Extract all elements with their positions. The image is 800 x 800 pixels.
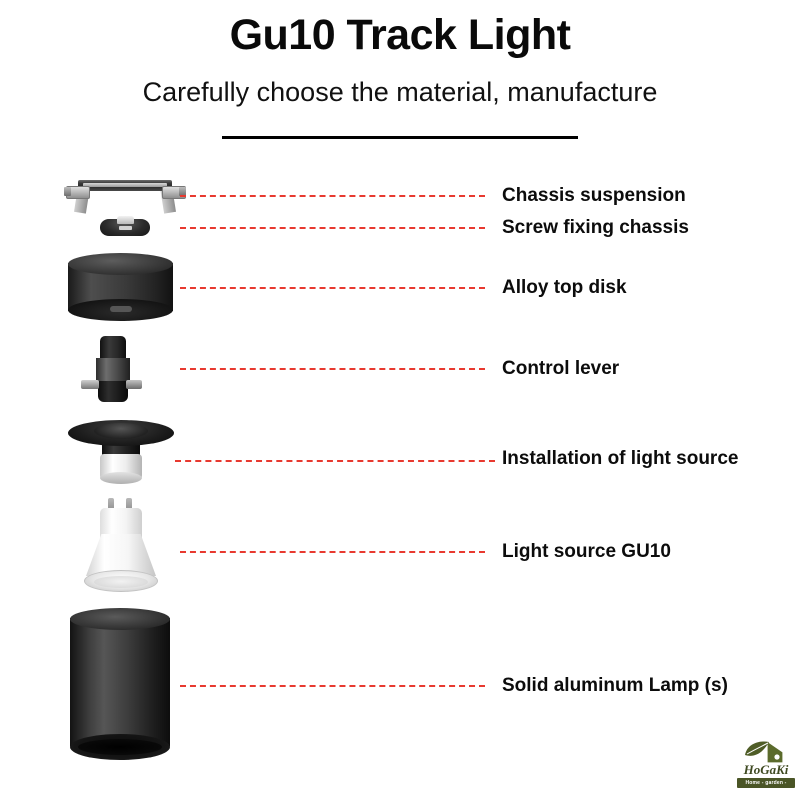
logo-wordmark: HoGaKi	[737, 763, 795, 776]
logo-tagline: Home - garden - kitchen	[737, 778, 795, 788]
bulb-lens-inner	[94, 576, 148, 588]
page-subtitle: Carefully choose the material, manufactu…	[0, 78, 800, 108]
bulb-neck	[100, 508, 142, 538]
callout-label-installation-of-light-source: Installation of light source	[502, 449, 738, 468]
control-lever-knob-right	[126, 380, 142, 389]
leader-line-light-source-gu10	[180, 551, 485, 553]
suspension-screw-left	[64, 187, 71, 196]
header-divider	[222, 136, 578, 139]
alloy-disk-slot	[110, 306, 132, 312]
brand-logo: HoGaKi Home - garden - kitchen	[737, 739, 795, 791]
callout-label-chassis-suspension: Chassis suspension	[502, 186, 686, 205]
leader-line-chassis-suspension	[180, 195, 485, 197]
lamp-housing-top	[70, 608, 170, 630]
part-light-source-gu10	[72, 498, 170, 594]
part-chassis-suspension	[64, 178, 186, 216]
leader-line-solid-aluminum-lamp	[180, 685, 485, 687]
part-control-lever	[78, 336, 148, 402]
part-screw-fixing-chassis	[100, 216, 150, 238]
screw-fixing-cap	[117, 216, 134, 224]
callout-label-control-lever: Control lever	[502, 359, 619, 378]
suspension-bar	[78, 180, 172, 191]
control-lever-shaft-bottom	[98, 381, 128, 402]
page-title: Gu10 Track Light	[0, 12, 800, 59]
lamp-housing-bottom-opening	[78, 739, 162, 755]
control-lever-knob-left	[81, 380, 99, 389]
callout-label-alloy-top-disk: Alloy top disk	[502, 278, 627, 297]
lamp-housing-body	[70, 618, 170, 746]
part-installation-of-light-source	[68, 420, 174, 482]
screw-fixing-slot	[119, 226, 132, 230]
part-solid-aluminum-lamp	[70, 608, 170, 760]
callout-label-screw-fixing-chassis: Screw fixing chassis	[502, 218, 689, 237]
part-alloy-top-disk	[68, 253, 173, 321]
light-source-socket-ring	[100, 472, 142, 484]
callout-label-light-source-gu10: Light source GU10	[502, 542, 671, 561]
alloy-disk-top	[68, 253, 173, 275]
product-diagram-page: Gu10 Track Light Carefully choose the ma…	[0, 0, 800, 800]
leader-line-installation-light-source	[175, 460, 495, 462]
leader-line-alloy-top-disk	[180, 287, 485, 289]
leaf-house-logo-icon	[743, 739, 789, 764]
leader-line-screw-fixing-chassis	[180, 227, 485, 229]
leader-line-control-lever	[180, 368, 485, 370]
callout-label-solid-aluminum-lamp: Solid aluminum Lamp (s)	[502, 676, 728, 695]
light-source-plate-inner	[94, 423, 148, 439]
